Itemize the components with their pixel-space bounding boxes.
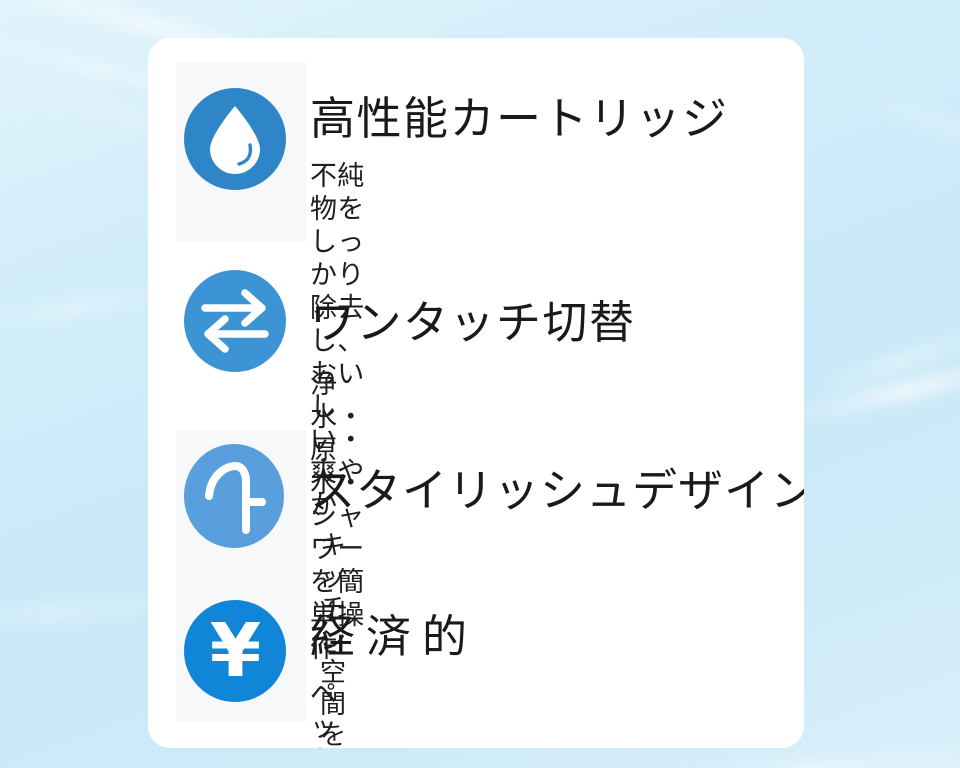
water-drop-icon xyxy=(184,88,286,190)
faucet-icon xyxy=(184,444,284,548)
light-streak xyxy=(825,76,960,178)
feature-title: スタイリッシュデザイン xyxy=(310,468,804,513)
yen-symbol: ¥ xyxy=(210,614,261,688)
two-way-arrows-icon xyxy=(184,270,286,372)
feature-card: 高性能カートリッジ 不純物をしっかり除去し、 おいしい・爽やか ワンタッチ切替 … xyxy=(148,38,804,748)
feature-subtitle: ペットボトル水より断然おトク xyxy=(310,678,337,748)
feature-title: 経済的 xyxy=(310,614,478,659)
feature-title: 高性能カートリッジ xyxy=(310,96,729,141)
yen-icon: ¥ xyxy=(184,600,286,702)
feature-title: ワンタッチ切替 xyxy=(310,300,636,345)
light-streak xyxy=(620,745,960,768)
